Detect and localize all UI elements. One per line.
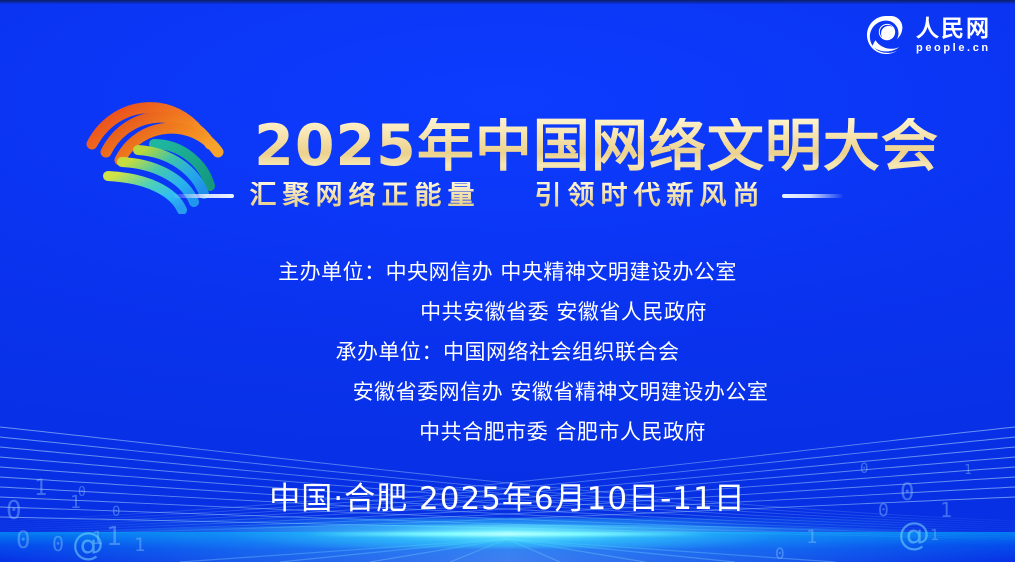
organizer-line: 中共合肥市委 合肥市人民政府: [309, 412, 706, 452]
organizer-line: 主办单位：中央网信办 中央精神文明建设办公室: [278, 252, 737, 292]
conference-poster: 0 1 1 0 0 1 0 1 0 1 @ 0 1 0 1 0 1 1 0 @ …: [0, 0, 1015, 562]
people-cn-globe-icon: [865, 14, 907, 56]
brand-name-cn: 人民网: [916, 16, 991, 40]
binary-digit: 1: [806, 528, 817, 547]
slogan-part-one: 汇聚网络正能量: [250, 182, 481, 209]
binary-digit: 1: [930, 528, 939, 543]
binary-digit: 0: [860, 462, 868, 476]
decorative-rule-left-icon: [172, 194, 234, 198]
organizer-line: 安徽省委网信办 安徽省精神文明建设办公室: [247, 372, 769, 412]
binary-digit: 1: [134, 536, 145, 555]
binary-digit: 0: [16, 528, 30, 552]
at-symbol-icon: @: [898, 518, 930, 550]
decorative-rule-right-icon: [782, 194, 844, 198]
horizon-core-light: [305, 532, 711, 536]
at-symbol-icon: @: [72, 528, 104, 560]
top-edge-strip: [0, 0, 1015, 4]
binary-digit: 1: [106, 524, 122, 550]
slogan-row: 汇聚网络正能量 引领时代新风尚: [0, 182, 1015, 209]
page-title: 2025年中国网络文明大会: [254, 118, 939, 179]
organizer-block: 主办单位：中央网信办 中央精神文明建设办公室 中共安徽省委 安徽省人民政府 承办…: [0, 252, 1015, 452]
binary-digit: 0: [52, 534, 64, 554]
venue-and-date: 中国·合肥 2025年6月10日-11日: [0, 482, 1015, 516]
people-cn-logo[interactable]: 人民网 people.cn: [865, 14, 991, 56]
slogan-part-two: 引领时代新风尚: [535, 182, 766, 209]
binary-digit: 0: [775, 546, 785, 562]
binary-digit: 1: [964, 464, 972, 477]
people-cn-wordmark: 人民网 people.cn: [916, 16, 991, 53]
organizer-line: 中共安徽省委 安徽省人民政府: [308, 292, 707, 332]
organizer-line: 承办单位：中国网络社会组织联合会: [336, 332, 680, 372]
brand-name-en: people.cn: [916, 42, 991, 54]
